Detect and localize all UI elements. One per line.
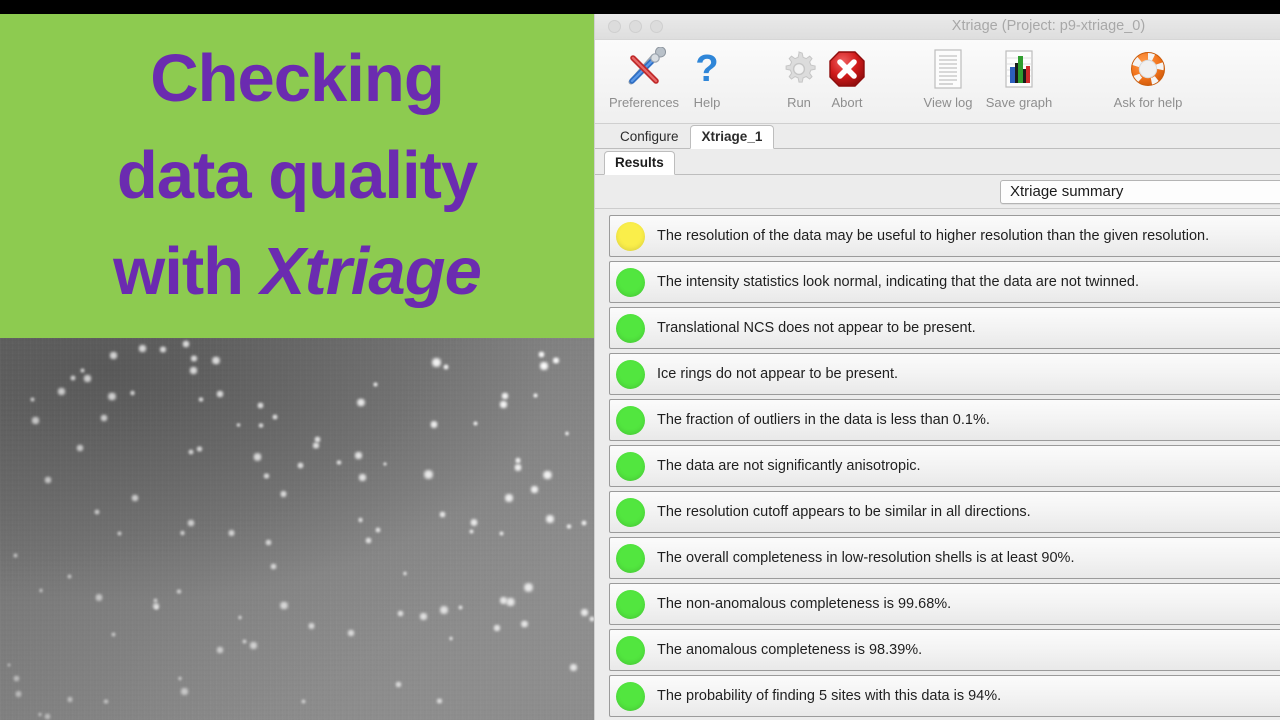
window-title: Xtriage (Project: p9-xtriage_0) bbox=[595, 18, 1280, 34]
status-ok-icon bbox=[616, 360, 645, 389]
result-row-text: The resolution of the data may be useful… bbox=[657, 228, 1209, 244]
diffraction-spot bbox=[83, 374, 92, 383]
diffraction-spot bbox=[301, 699, 306, 704]
slide-title-line-2: data quality bbox=[117, 128, 477, 224]
diffraction-spot bbox=[308, 622, 316, 630]
diffraction-spot bbox=[152, 602, 160, 610]
diffraction-spot bbox=[253, 452, 263, 462]
subtab-results[interactable]: Results bbox=[604, 151, 675, 176]
result-row-text: Translational NCS does not appear to be … bbox=[657, 320, 976, 336]
diffraction-spot bbox=[211, 356, 221, 366]
xtriage-window: Xtriage (Project: p9-xtriage_0) bbox=[594, 14, 1280, 720]
result-row[interactable]: The resolution cutoff appears to be simi… bbox=[609, 491, 1280, 533]
slide-title-line-3-prefix: with bbox=[113, 234, 261, 309]
diffraction-spot bbox=[436, 698, 442, 704]
diffraction-spot bbox=[565, 431, 570, 436]
diffraction-spot bbox=[395, 681, 402, 688]
status-ok-icon bbox=[616, 590, 645, 619]
diffraction-spot bbox=[542, 470, 552, 480]
diffraction-spot bbox=[297, 462, 304, 469]
diffraction-spot bbox=[265, 539, 272, 546]
diffraction-spot bbox=[347, 629, 355, 637]
diffraction-spot bbox=[238, 615, 243, 620]
diffraction-spot bbox=[314, 436, 321, 443]
diffraction-spot bbox=[70, 375, 76, 381]
tab-bar: Configure Xtriage_1 bbox=[595, 124, 1280, 149]
screenshot-root: Checking data quality with Xtriage Xtria… bbox=[0, 0, 1280, 720]
slide-title-line-3: with Xtriage bbox=[113, 224, 481, 320]
diffraction-spot bbox=[358, 517, 364, 523]
diffraction-spot bbox=[188, 449, 194, 455]
diffraction-spot bbox=[258, 423, 264, 429]
diffraction-spot bbox=[15, 690, 23, 698]
diffraction-spot bbox=[100, 414, 108, 422]
diffraction-spot bbox=[439, 605, 449, 615]
diffraction-spot bbox=[538, 351, 545, 358]
diffraction-spot bbox=[236, 423, 240, 427]
result-row[interactable]: The overall completeness in low-resoluti… bbox=[609, 537, 1280, 579]
status-warning-icon bbox=[616, 222, 645, 251]
result-row[interactable]: The intensity statistics look normal, in… bbox=[609, 261, 1280, 303]
presentation-slide: Checking data quality with Xtriage bbox=[0, 14, 594, 720]
sub-tab-bar: Results bbox=[595, 149, 1280, 175]
slide-title-line-1: Checking bbox=[150, 31, 444, 127]
diffraction-spot bbox=[39, 588, 43, 592]
diffraction-spot bbox=[57, 387, 65, 395]
result-row-text: The probability of finding 5 sites with … bbox=[657, 688, 1001, 704]
diffraction-spot bbox=[198, 397, 203, 402]
diffraction-spot bbox=[375, 527, 381, 533]
diffraction-spot bbox=[13, 675, 20, 682]
status-ok-icon bbox=[616, 636, 645, 665]
summary-selector-row: Xtriage summary bbox=[595, 175, 1280, 209]
diffraction-spot bbox=[430, 420, 439, 429]
diffraction-spot bbox=[473, 421, 478, 426]
diffraction-spot bbox=[423, 469, 434, 480]
window-titlebar: Xtriage (Project: p9-xtriage_0) bbox=[595, 14, 1280, 40]
stop-octagon-icon bbox=[799, 44, 895, 94]
results-list: The resolution of the data may be useful… bbox=[595, 209, 1280, 719]
diffraction-spot bbox=[523, 582, 534, 593]
diffraction-spot bbox=[533, 393, 538, 398]
status-ok-icon bbox=[616, 498, 645, 527]
svg-text:?: ? bbox=[695, 48, 718, 90]
diffraction-spot bbox=[95, 593, 104, 602]
diffraction-spot bbox=[365, 537, 372, 544]
diffraction-spot bbox=[539, 361, 549, 371]
result-row[interactable]: The data are not significantly anisotrop… bbox=[609, 445, 1280, 487]
diffraction-spot bbox=[272, 414, 278, 420]
diffraction-spot bbox=[439, 511, 446, 518]
diffraction-spot bbox=[356, 398, 365, 407]
diffraction-spot bbox=[117, 531, 122, 536]
diffraction-spot bbox=[270, 563, 277, 570]
tab-configure[interactable]: Configure bbox=[609, 126, 690, 149]
diffraction-spot bbox=[493, 624, 501, 632]
result-row[interactable]: The anomalous completeness is 98.39%. bbox=[609, 629, 1280, 671]
diffraction-spot bbox=[279, 601, 288, 610]
diffraction-spot bbox=[458, 605, 462, 609]
status-ok-icon bbox=[616, 682, 645, 711]
result-row-text: The fraction of outliers in the data is … bbox=[657, 412, 990, 428]
diffraction-spot bbox=[67, 574, 72, 579]
diffraction-spot bbox=[159, 346, 167, 354]
result-row-text: The anomalous completeness is 98.39%. bbox=[657, 642, 922, 658]
diffraction-spot bbox=[499, 596, 508, 605]
diffraction-spot bbox=[545, 514, 555, 524]
diffraction-spot bbox=[449, 636, 454, 641]
diffraction-spot bbox=[107, 392, 117, 402]
diffraction-spot bbox=[501, 392, 509, 400]
diffraction-spot bbox=[30, 397, 35, 402]
ask-for-help-button[interactable]: Ask for help bbox=[1100, 44, 1196, 110]
diffraction-spot bbox=[103, 699, 108, 704]
slide-title-line-3-emphasis: Xtriage bbox=[261, 234, 481, 309]
summary-select[interactable]: Xtriage summary bbox=[1000, 180, 1280, 204]
status-ok-icon bbox=[616, 268, 645, 297]
diffraction-spot bbox=[187, 519, 195, 527]
diffraction-spot bbox=[176, 589, 182, 595]
life-ring-icon bbox=[1100, 44, 1196, 94]
x-ray-diffraction-image bbox=[0, 338, 594, 720]
diffraction-spot bbox=[44, 476, 52, 484]
diffraction-spot bbox=[178, 676, 182, 680]
diffraction-spot bbox=[138, 344, 147, 353]
diffraction-spot bbox=[280, 490, 288, 498]
help-button[interactable]: ? Help bbox=[659, 44, 755, 110]
diffraction-spot bbox=[499, 531, 504, 536]
diffraction-spot bbox=[552, 357, 559, 364]
diffraction-spot bbox=[13, 553, 18, 558]
diffraction-spot bbox=[470, 518, 479, 527]
result-row-text: The non-anomalous completeness is 99.68%… bbox=[657, 596, 951, 612]
main-toolbar: Preferences ? Help bbox=[595, 40, 1280, 124]
diffraction-spot bbox=[182, 340, 190, 348]
tab-xtriage-1[interactable]: Xtriage_1 bbox=[690, 125, 775, 150]
diffraction-spot bbox=[257, 402, 264, 409]
diffraction-spot bbox=[131, 494, 139, 502]
save-graph-button[interactable]: Save graph bbox=[971, 44, 1067, 110]
result-row-text: The data are not significantly anisotrop… bbox=[657, 458, 921, 474]
diffraction-spot bbox=[520, 620, 529, 629]
diffraction-spot bbox=[31, 416, 40, 425]
diffraction-spot bbox=[566, 524, 571, 529]
diffraction-spot bbox=[67, 696, 73, 702]
diffraction-spot bbox=[7, 663, 11, 667]
diffraction-spot bbox=[469, 529, 474, 534]
result-row[interactable]: The probability of finding 5 sites with … bbox=[609, 675, 1280, 717]
status-ok-icon bbox=[616, 452, 645, 481]
status-ok-icon bbox=[616, 544, 645, 573]
diffraction-spot bbox=[228, 529, 235, 536]
diffraction-spot bbox=[189, 366, 198, 375]
diffraction-spot bbox=[190, 355, 198, 363]
status-ok-icon bbox=[616, 314, 645, 343]
diffraction-spot bbox=[263, 473, 269, 479]
diffraction-spot bbox=[499, 400, 507, 408]
diffraction-spot bbox=[76, 444, 84, 452]
save-graph-label: Save graph bbox=[971, 95, 1067, 110]
diffraction-spot bbox=[80, 368, 85, 373]
diffraction-spot bbox=[419, 612, 428, 621]
result-row-text: Ice rings do not appear to be present. bbox=[657, 366, 898, 382]
status-ok-icon bbox=[616, 406, 645, 435]
diffraction-spot bbox=[216, 390, 224, 398]
diffraction-spot bbox=[431, 357, 443, 369]
diffraction-spot bbox=[249, 641, 258, 650]
result-row[interactable]: The resolution of the data may be useful… bbox=[609, 215, 1280, 257]
question-mark-icon: ? bbox=[659, 44, 755, 94]
abort-label: Abort bbox=[799, 95, 895, 110]
diffraction-spot bbox=[515, 457, 522, 464]
diffraction-spot bbox=[242, 639, 247, 644]
diffraction-spot bbox=[109, 351, 118, 360]
result-row[interactable]: Translational NCS does not appear to be … bbox=[609, 307, 1280, 349]
diffraction-spot bbox=[196, 446, 203, 453]
abort-button[interactable]: Abort bbox=[799, 44, 895, 110]
diffraction-spot bbox=[94, 509, 99, 514]
diffraction-spot bbox=[514, 463, 523, 472]
diffraction-spot bbox=[530, 485, 539, 494]
diffraction-spot bbox=[581, 520, 587, 526]
ask-for-help-label: Ask for help bbox=[1100, 95, 1196, 110]
diffraction-spot bbox=[354, 451, 364, 461]
slide-title-card: Checking data quality with Xtriage bbox=[0, 14, 594, 338]
result-row-text: The intensity statistics look normal, in… bbox=[657, 274, 1139, 290]
diffraction-spot bbox=[569, 663, 578, 672]
result-row-text: The resolution cutoff appears to be simi… bbox=[657, 504, 1031, 520]
help-label: Help bbox=[659, 95, 755, 110]
diffraction-spot bbox=[44, 713, 51, 720]
diffraction-spot bbox=[130, 390, 135, 395]
diffraction-spot bbox=[180, 687, 189, 696]
result-row[interactable]: The fraction of outliers in the data is … bbox=[609, 399, 1280, 441]
result-row-text: The overall completeness in low-resoluti… bbox=[657, 550, 1074, 566]
result-row[interactable]: Ice rings do not appear to be present. bbox=[609, 353, 1280, 395]
diffraction-spot bbox=[397, 610, 404, 617]
bar-chart-icon bbox=[971, 44, 1067, 94]
diffraction-spot bbox=[216, 646, 225, 655]
diffraction-spot bbox=[580, 608, 589, 617]
diffraction-spot bbox=[504, 493, 515, 504]
diffraction-spot bbox=[358, 473, 367, 482]
diffraction-spot bbox=[443, 364, 449, 370]
diffraction-spot bbox=[403, 571, 407, 575]
result-row[interactable]: The non-anomalous completeness is 99.68%… bbox=[609, 583, 1280, 625]
diffraction-spot bbox=[180, 530, 185, 535]
diffraction-spot bbox=[383, 462, 387, 466]
